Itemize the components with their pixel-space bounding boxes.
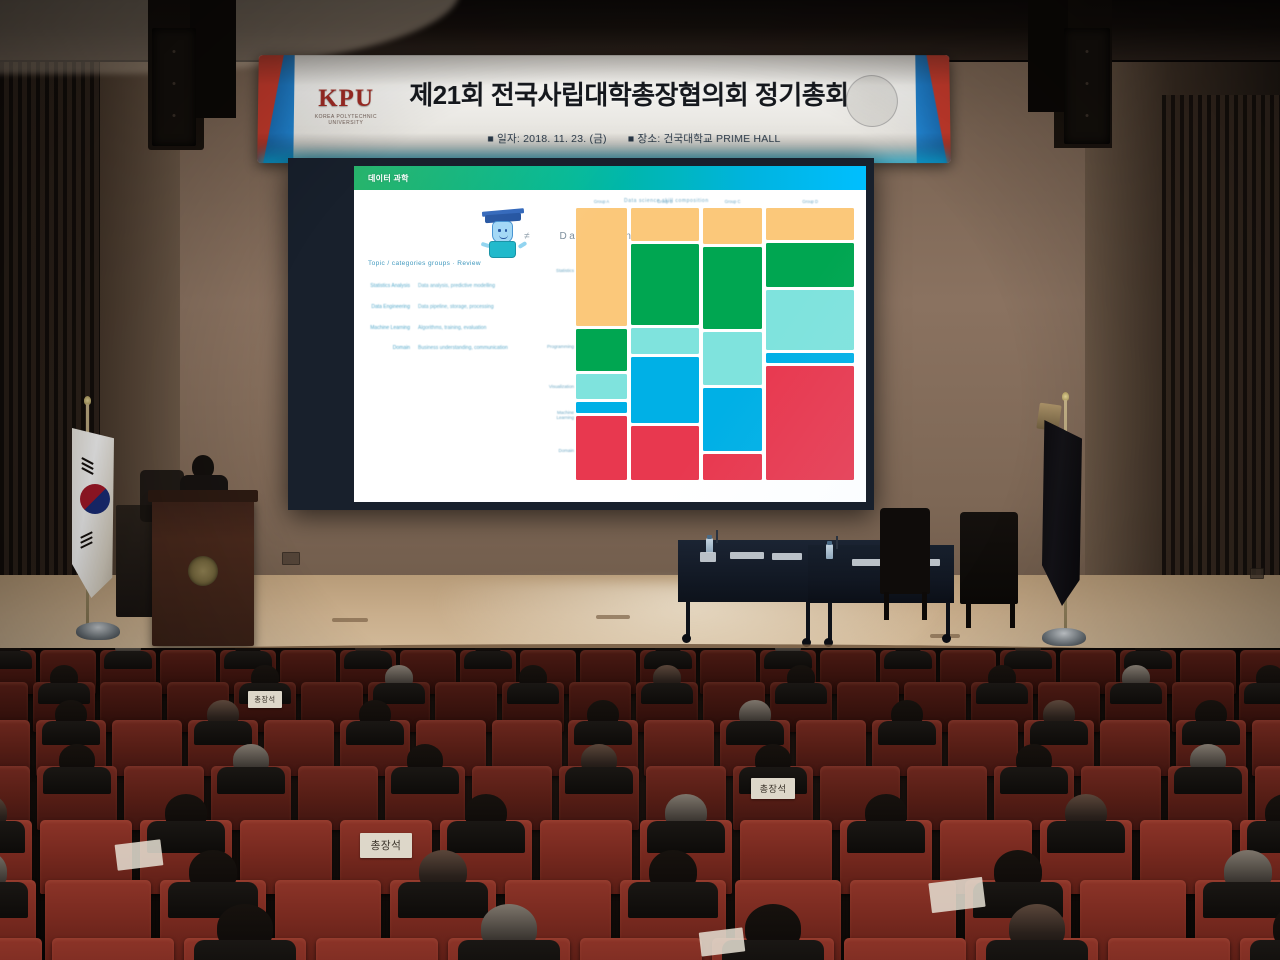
hanging-speaker-left xyxy=(152,28,196,146)
mosaic-column-label: Group A xyxy=(576,199,627,204)
mosaic-column-label: Group D xyxy=(766,199,854,204)
table-nameplate xyxy=(700,552,716,562)
mosaic-segment xyxy=(766,243,854,287)
auditorium-seat xyxy=(0,938,42,960)
flag-stand-right xyxy=(1042,628,1086,646)
slide-item-key: Data Engineering xyxy=(368,304,418,312)
mosaic-segment xyxy=(766,366,854,480)
slide-item-value: Business understanding, communication xyxy=(418,345,548,353)
wall-outlet xyxy=(282,552,300,565)
audience-member-shoulders xyxy=(1174,767,1241,794)
audience-member-shoulders xyxy=(42,721,101,745)
slide-header-bar: 데이터 과학 xyxy=(354,166,866,190)
mosaic-segment xyxy=(631,328,699,355)
flag-stand-left xyxy=(76,622,120,640)
slide-item-value: Data analysis, predictive modelling xyxy=(418,283,548,291)
audience-member-shoulders xyxy=(775,683,827,704)
list-item: Domain Business understanding, communica… xyxy=(368,345,548,353)
audience-member-shoulders xyxy=(628,882,717,918)
auditorium-seat xyxy=(316,938,438,960)
chair-leg xyxy=(1010,600,1015,628)
mosaic-column: Group C xyxy=(703,208,762,480)
mosaic-segment xyxy=(703,388,762,451)
chair-leg xyxy=(922,592,927,620)
audience-member-shoulders xyxy=(344,651,391,669)
water-bottle xyxy=(826,544,833,559)
projection-screen-frame: 데이터 과학 ≠ xyxy=(288,158,874,510)
not-equal-icon: ≠ xyxy=(524,231,530,242)
audience-member-shoulders xyxy=(647,821,724,852)
y-tick-label: Statistics xyxy=(546,268,574,273)
table-leg xyxy=(686,600,690,636)
stage-chair-right xyxy=(960,512,1018,604)
auditorium-seat xyxy=(580,938,702,960)
mosaic-segment xyxy=(576,329,627,372)
mosaic-column-label: Group B xyxy=(631,199,699,204)
mosaic-column-label: Group C xyxy=(703,199,762,204)
stage-floor-vent xyxy=(332,618,368,622)
audience-member-shoulders xyxy=(1203,882,1280,918)
audience-member-shoulders xyxy=(458,940,560,960)
korean-national-flag xyxy=(72,428,114,598)
y-tick-label: Machine Learning xyxy=(546,410,574,420)
mosaic-segment xyxy=(631,208,699,241)
audience-member-shoulders xyxy=(1000,767,1067,794)
slide-body: ≠ Data Science Topic / categories groups… xyxy=(354,190,866,502)
graduate-avatar-icon xyxy=(482,212,524,260)
mosaic-segment xyxy=(576,402,627,413)
audience-member-shoulders xyxy=(0,882,28,918)
university-seal-icon xyxy=(846,75,899,127)
stage-floor-vent xyxy=(596,615,630,619)
ceiling-beam-left-inner xyxy=(190,0,236,118)
mosaic-column: Group D xyxy=(766,208,854,480)
mosaic-segment xyxy=(576,374,627,399)
right-acoustic-slats xyxy=(1162,95,1280,600)
auditorium-photo: KPU KOREA POLYTECHNIC UNIVERSITY 제21회 전국… xyxy=(0,0,1280,960)
mosaic-segment xyxy=(703,332,762,385)
audience-member-shoulders xyxy=(641,683,693,704)
audience-member-shoulders xyxy=(0,821,25,852)
auditorium-seat xyxy=(52,938,174,960)
audience-member-shoulders xyxy=(884,651,931,669)
water-bottle xyxy=(706,538,713,553)
chair-leg xyxy=(884,592,889,620)
slide-header-title: 데이터 과학 xyxy=(368,173,409,184)
list-item: Statistics Analysis Data analysis, predi… xyxy=(368,283,548,291)
mosaic-segment xyxy=(703,454,762,480)
audience-member-shoulders xyxy=(217,767,284,794)
table-caster xyxy=(942,634,951,643)
microphone xyxy=(836,536,838,549)
slide-left-panel: Topic / categories groups · Review Stati… xyxy=(368,260,548,366)
audience-member-shoulders xyxy=(398,882,487,918)
audience-member-shoulders xyxy=(1030,721,1089,745)
banner-title: 제21회 전국사립대학총장협의회 정기총회 xyxy=(394,75,864,112)
y-tick-label: Domain xyxy=(546,448,574,453)
table-paper xyxy=(730,552,764,559)
banner-venue: ■ 장소: 건국대학교 PRIME HALL xyxy=(628,133,781,145)
audience-member-shoulders xyxy=(391,767,458,794)
banner-subtitle: ■ 일자: 2018. 11. 23. (금) ■ 장소: 건국대학교 PRIM… xyxy=(394,131,875,146)
table-leg xyxy=(828,602,832,640)
event-banner: KPU KOREA POLYTECHNIC UNIVERSITY 제21회 전국… xyxy=(257,55,951,163)
reserved-seat-sign: 총장석 xyxy=(360,833,412,858)
audience-member-shoulders xyxy=(194,721,253,745)
audience-member-shoulders xyxy=(726,721,785,745)
table-leg xyxy=(806,602,810,640)
mosaic-segment xyxy=(703,208,762,244)
lectern xyxy=(152,498,254,646)
projection-screen: 데이터 과학 ≠ xyxy=(354,166,866,502)
banner-date: ■ 일자: 2018. 11. 23. (금) xyxy=(487,133,606,145)
audience-member-shoulders xyxy=(976,683,1028,704)
table-caster xyxy=(682,634,691,643)
audience-member-shoulders xyxy=(847,821,924,852)
y-tick-label: Visualization xyxy=(546,384,574,389)
ceiling-beam-right-inner xyxy=(1028,0,1068,112)
audience-member-shoulders xyxy=(986,940,1088,960)
slide-item-key: Statistics Analysis xyxy=(368,283,418,291)
chart-y-axis-labels: Statistics Programming Visualization Mac… xyxy=(546,216,574,478)
mosaic-segment xyxy=(766,290,854,350)
audience-member-shoulders xyxy=(346,721,405,745)
wall-outlet xyxy=(1250,568,1264,579)
audience-member-shoulders xyxy=(1110,683,1162,704)
hanging-speaker-right xyxy=(1064,28,1110,144)
slide-item-key: Machine Learning xyxy=(368,325,418,333)
table-leg xyxy=(946,602,950,636)
handout-paper xyxy=(115,839,164,870)
audience-member-shoulders xyxy=(447,821,524,852)
auditorium-seat xyxy=(844,938,966,960)
audience-member-shoulders xyxy=(1244,683,1280,704)
chair-leg xyxy=(966,600,971,628)
audience-seating: 총장석총장석총장석 xyxy=(0,648,1280,960)
university-crest-icon xyxy=(188,556,218,586)
mosaic-chart: Data science skill composition Statistic… xyxy=(546,198,856,498)
audience-member-shoulders xyxy=(1250,940,1280,960)
kpu-logo-subtitle: KOREA POLYTECHNIC UNIVERSITY xyxy=(304,114,388,126)
y-tick-label: Programming xyxy=(546,344,574,349)
slide-left-title: Topic / categories groups · Review xyxy=(368,260,548,267)
mosaic-segment xyxy=(576,416,627,480)
mosaic-segment xyxy=(576,208,627,326)
mosaic-segment xyxy=(766,353,854,363)
mosaic-column: Group A xyxy=(576,208,627,480)
auditorium-seat xyxy=(1108,938,1230,960)
audience-member-shoulders xyxy=(878,721,937,745)
slide-item-value: Data pipeline, storage, processing xyxy=(418,304,548,312)
audience-member-shoulders xyxy=(565,767,632,794)
audience-member-shoulders xyxy=(464,651,511,669)
stage-chair-left xyxy=(880,508,930,594)
microphone xyxy=(716,530,718,543)
audience-member-shoulders xyxy=(194,940,296,960)
mosaic-segment xyxy=(631,244,699,325)
slide-item-value: Algorithms, training, evaluation xyxy=(418,325,548,333)
slide-item-key: Domain xyxy=(368,345,418,353)
mosaic-segment xyxy=(703,247,762,329)
audience-member-shoulders xyxy=(0,651,32,669)
mosaic-columns: Group AGroup BGroup CGroup D xyxy=(576,208,854,480)
taeguk-symbol xyxy=(80,484,110,514)
kpu-logo-mark: KPU xyxy=(304,85,388,113)
audience-member-shoulders xyxy=(1247,821,1280,852)
reserved-seat-sign: 총장석 xyxy=(751,778,796,800)
audience-member-shoulders xyxy=(1182,721,1241,745)
reserved-seat-sign: 총장석 xyxy=(248,691,283,708)
audience-member-shoulders xyxy=(104,651,151,669)
audience-member-shoulders xyxy=(507,683,559,704)
lectern-top xyxy=(148,490,258,502)
audience-member-shoulders xyxy=(1004,651,1051,669)
audience-member-shoulders xyxy=(1047,821,1124,852)
mosaic-segment xyxy=(766,208,854,240)
audience-member-shoulders xyxy=(574,721,633,745)
list-item: Data Engineering Data pipeline, storage,… xyxy=(368,304,548,312)
list-item: Machine Learning Algorithms, training, e… xyxy=(368,325,548,333)
kpu-logo: KPU KOREA POLYTECHNIC UNIVERSITY xyxy=(304,85,388,126)
audience-member-shoulders xyxy=(43,767,110,794)
table-paper xyxy=(772,553,802,560)
mosaic-segment xyxy=(631,426,699,480)
mosaic-segment xyxy=(631,357,699,423)
mosaic-column: Group B xyxy=(631,208,699,480)
